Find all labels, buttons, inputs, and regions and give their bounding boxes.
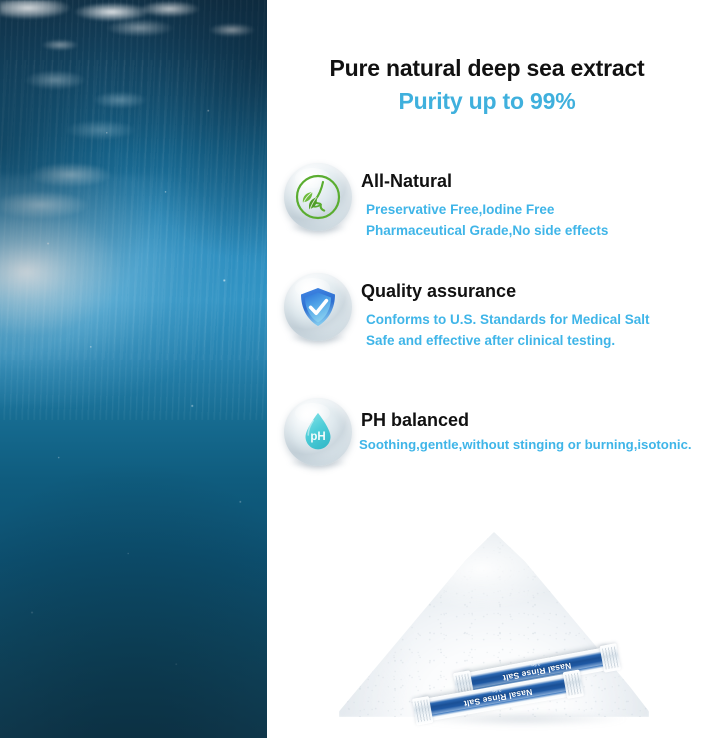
svg-text:pH: pH <box>310 431 325 443</box>
ph-droplet-icon: pH <box>284 398 352 466</box>
feature-line: Pharmaceutical Grade,No side effects <box>366 220 608 241</box>
page-title: Pure natural deep sea extract <box>257 55 717 82</box>
ocean-photo <box>0 0 267 738</box>
product-photo: Nasal Rinse Salt 2.5g Nasal Rinse Salt 2… <box>267 500 720 738</box>
feature-line: Conforms to U.S. Standards for Medical S… <box>366 309 650 330</box>
sachet-crimp-left <box>599 643 621 673</box>
feature-line: Safe and effective after clinical testin… <box>366 330 650 351</box>
feature-description: Conforms to U.S. Standards for Medical S… <box>366 309 650 351</box>
page-subtitle: Purity up to 99% <box>257 88 717 115</box>
ocean-vignette <box>0 0 267 738</box>
feature-title: All-Natural <box>361 171 452 192</box>
feature-title: PH balanced <box>361 410 469 431</box>
feature-line: Preservative Free,Iodine Free <box>366 199 608 220</box>
feature-title: Quality assurance <box>361 281 516 302</box>
shield-check-icon <box>284 273 352 341</box>
nose-leaf-icon <box>284 163 352 231</box>
feature-description: Preservative Free,Iodine Free Pharmaceut… <box>366 199 608 241</box>
product-infographic: Pure natural deep sea extract Purity up … <box>0 0 720 738</box>
feature-line: Soothing,gentle,without stinging or burn… <box>359 434 692 455</box>
feature-description: Soothing,gentle,without stinging or burn… <box>359 434 692 455</box>
